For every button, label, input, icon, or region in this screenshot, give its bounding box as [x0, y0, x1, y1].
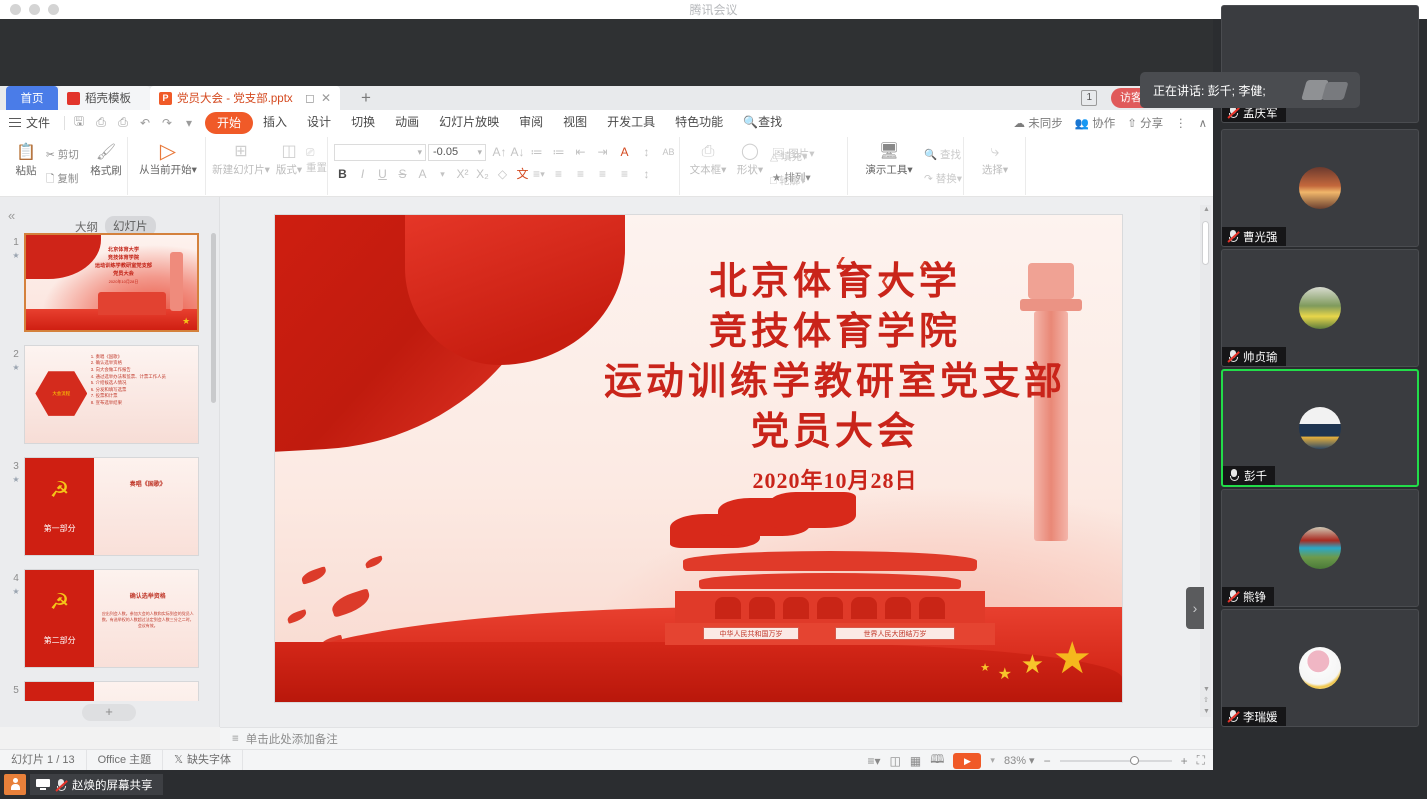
- title-line: 党员大会: [70, 270, 176, 278]
- slide-title-line: 竞技体育学院: [575, 307, 1095, 357]
- sync-status[interactable]: ☁ 未同步: [1014, 115, 1063, 131]
- wps-dark-header: [0, 19, 1213, 86]
- list-item: 5. 介绍候选人情况: [91, 380, 195, 387]
- hamburger-icon: [9, 115, 21, 130]
- previous-slide-icon[interactable]: ⇧: [1203, 696, 1209, 704]
- scrollbar-thumb[interactable]: [1202, 221, 1209, 265]
- textbox-label: 文本框: [690, 164, 722, 176]
- thumbnail-number: 5: [10, 685, 22, 696]
- gate-roof: [683, 551, 977, 571]
- bold-button[interactable]: B: [334, 166, 351, 183]
- slide-title-line: 党员大会: [575, 407, 1095, 457]
- view-sorter-icon[interactable]: ▦: [910, 754, 921, 768]
- ribbon-group-select: ⤷ 选择▾: [964, 137, 1026, 195]
- star-icon: ★: [1021, 649, 1044, 680]
- shapes-icon: ◯: [730, 142, 770, 162]
- animation-star-icon: ★: [10, 251, 22, 260]
- tencent-meeting-icon[interactable]: [4, 774, 26, 795]
- screen-share-label: 赵焕的屏幕共享: [72, 777, 153, 793]
- thumbnail-list[interactable]: 1 ★ ★ 北京体育大学 竞技体育学院 运动训练学教研室党: [0, 231, 214, 701]
- play-slideshow-button[interactable]: ▶: [953, 753, 981, 769]
- reset-slide-button[interactable]: ⎚ 重置: [306, 147, 327, 175]
- participant-tile-5[interactable]: 李瑞媛: [1221, 609, 1419, 727]
- section-left-panel: ☭ 第一部分: [25, 458, 94, 555]
- avatar: [1299, 287, 1341, 329]
- animation-star-icon: ★: [10, 587, 22, 596]
- participant-video-sidebar: 孟庆军 曹光强 帅贞瑜: [1219, 19, 1422, 770]
- paste-icon: 📋: [6, 143, 46, 163]
- gate-banner-right: 世界人民大团结万岁: [835, 627, 955, 640]
- tab-docer-label: 稻壳模板: [85, 90, 131, 106]
- wps-tab-strip: 首页 稻壳模板 P 党员大会 - 党支部.pptx ◻ ✕ + 1 访客登录: [0, 86, 1213, 110]
- menu-item-review[interactable]: 审阅: [509, 110, 553, 135]
- shapes-button[interactable]: ◯ 形状▾: [730, 142, 770, 177]
- menu-items[interactable]: 开始 插入 设计 切换 动画 幻灯片放映 审阅 视图 开发工具 特色功能 🔍查找: [205, 110, 792, 135]
- docer-icon: [67, 92, 80, 105]
- font-name-input[interactable]: ▾: [334, 144, 426, 161]
- divider: [64, 116, 65, 130]
- format-painter-icon: 🖌: [86, 143, 126, 163]
- participant-tile-4[interactable]: 熊铮: [1221, 489, 1419, 607]
- select-label: 选择: [982, 164, 1003, 176]
- page-count-badge[interactable]: 1: [1081, 90, 1097, 106]
- animation-star-icon: ★: [10, 363, 22, 372]
- thumbnail-slide-3[interactable]: ☭ 第一部分 奏唱《国歌》: [24, 457, 199, 556]
- play-circle-icon: ▷: [137, 142, 199, 162]
- format-painter-button[interactable]: 🖌 格式刷: [86, 143, 126, 178]
- mic-on-icon: [1229, 469, 1239, 482]
- menu-item-insert[interactable]: 插入: [253, 110, 297, 135]
- textbox-button[interactable]: ⎙ 文本框▾: [686, 142, 730, 177]
- menu-item-special-features[interactable]: 特色功能: [665, 110, 733, 135]
- notes-icon: ≡: [232, 733, 239, 745]
- menu-search-label: 查找: [758, 115, 782, 129]
- section-left-panel: ☭ 第二部分: [25, 570, 94, 667]
- slide-canvas-area: ❮ ❮ ❮ ❮ 北京体育大学 竞技体育学院 运动训练学教研室党支部: [220, 197, 1213, 727]
- tencent-meeting-logo: [1304, 80, 1350, 100]
- zoom-in-button[interactable]: +: [1181, 754, 1188, 768]
- section-body: 应出列会人数。参加大会的人数和实际到会的党员人数，有选举权的人数超过法定到会人数…: [101, 611, 194, 629]
- expand-side-panel-button[interactable]: ›: [1186, 587, 1204, 629]
- list-item: 3. 向大会做工作报告: [91, 367, 195, 374]
- ribbon-group-slides: ⊞ 新建幻灯片▾ ◫ 版式▾ ⎚ 重置: [206, 137, 328, 195]
- list-item: 2. 确认选举资格: [91, 360, 195, 367]
- layout-icon: ◫: [270, 142, 308, 162]
- notes-bar[interactable]: ≡ 单击此处添加备注: [220, 727, 1213, 749]
- chevron-down-icon: ▾: [477, 145, 485, 160]
- slide-thumbnail-panel: « 大纲 幻灯片 1 ★ ★: [0, 197, 220, 727]
- print-preview-icon[interactable]: ⎙: [113, 113, 133, 132]
- shapes-label: 形状: [737, 164, 758, 176]
- missing-font-status[interactable]: 𝕏 缺失字体: [163, 750, 243, 771]
- presentation-tools-icon: 🖥: [858, 142, 920, 162]
- section-part-label: 第二部分: [25, 635, 94, 646]
- bullets-button[interactable]: ≔: [528, 144, 545, 161]
- menu-item-slideshow[interactable]: 幻灯片放映: [429, 110, 509, 135]
- thumbnail-number: 1: [10, 237, 22, 248]
- align-left-button[interactable]: ≡: [528, 166, 545, 183]
- participant-name: 曹光强: [1243, 229, 1278, 245]
- participant-name: 李瑞媛: [1243, 709, 1278, 725]
- ribbon-group-font: ▾ -0.05 ▾ A↑ A↓ B I U S A ▾ X²: [328, 137, 680, 195]
- avatar: [1299, 527, 1341, 569]
- tiananmen-shape: [98, 292, 166, 315]
- next-slide-icon[interactable]: ▼: [1203, 708, 1210, 715]
- layout-label: 版式: [276, 164, 297, 176]
- close-icon[interactable]: ✕: [321, 91, 331, 105]
- replace-button[interactable]: ↷ 替换▾: [924, 171, 962, 186]
- thumbnail-number: 2: [10, 349, 22, 360]
- search-icon: 🔍: [743, 115, 758, 129]
- collaborate-button[interactable]: 👥 协作: [1075, 115, 1116, 131]
- agenda-badge: 大会流程: [35, 371, 87, 416]
- grow-font-button[interactable]: A↑: [491, 144, 508, 161]
- text-color-button[interactable]: A: [414, 166, 431, 183]
- new-slide-icon: ⊞: [212, 142, 270, 162]
- agenda-list: 1. 奏唱《国歌》 2. 确认选举资格 3. 向大会做工作报告 4. 通过选举办…: [91, 354, 195, 407]
- align-text-button[interactable]: ↕: [638, 144, 655, 161]
- fill-button[interactable]: △ 填充▾: [770, 149, 807, 164]
- quick-access-toolbar[interactable]: 🖫 ⎙ ⎙ ↶ ↷ ▾: [69, 113, 199, 132]
- replace-label: 替换: [936, 173, 957, 185]
- menu-item-developer[interactable]: 开发工具: [597, 110, 665, 135]
- section-heading: 奏唱《国歌》: [101, 479, 194, 488]
- decrease-indent-button[interactable]: ⇤: [572, 144, 589, 161]
- increase-indent-button[interactable]: ⇥: [594, 144, 611, 161]
- clear-formatting-button[interactable]: ◇: [494, 166, 511, 183]
- gate-banner-left: 中华人民共和国万岁: [703, 627, 799, 640]
- menubar-right-actions[interactable]: ☁ 未同步 👥 协作 ⇧ 分享 ⋮ ∧: [1014, 110, 1207, 135]
- redo-icon[interactable]: ↷: [157, 113, 177, 132]
- ribbon-group-tools: 🖥 演示工具▾ 🔍 查找 ↷ 替换▾: [848, 137, 964, 195]
- title-line: 竞技体育学院: [70, 254, 176, 262]
- collaborate-label: 协作: [1092, 118, 1115, 130]
- participant-name-badge: 彭千: [1223, 466, 1275, 485]
- fit-to-window-icon[interactable]: ⛶: [1197, 753, 1205, 768]
- new-slide-button[interactable]: ⊞ 新建幻灯片▾: [212, 142, 270, 177]
- view-normal-icon[interactable]: ◫: [890, 754, 901, 768]
- participant-tile-3[interactable]: 彭千: [1221, 369, 1419, 487]
- text-direction-button[interactable]: A: [616, 144, 633, 161]
- underline-button[interactable]: U: [374, 166, 391, 183]
- zoom-slider-knob[interactable]: [1130, 756, 1139, 765]
- distribute-button[interactable]: ≡: [616, 166, 633, 183]
- participant-name-badge: 李瑞媛: [1222, 707, 1286, 726]
- copy-label: 复制: [57, 173, 78, 185]
- menu-item-design[interactable]: 设计: [297, 110, 341, 135]
- speaking-indicator-toast: 正在讲话: 彭千; 李健;: [1140, 72, 1360, 108]
- menu-file[interactable]: 文件: [0, 114, 60, 131]
- subscript-button[interactable]: X₂: [474, 166, 491, 183]
- find-button[interactable]: 🔍 查找: [924, 147, 961, 162]
- wps-ribbon: 📋 粘贴 ✂ 剪切 🗋 复制 🖌 格式刷 ▷ 从当前开始▾ ⊞: [0, 135, 1213, 197]
- participant-name: 彭千: [1244, 468, 1267, 484]
- convert-smartart-button[interactable]: AB: [660, 144, 677, 161]
- wps-work-area: « 大纲 幻灯片 1 ★ ★: [0, 197, 1213, 727]
- thumbnail-number: 3: [10, 461, 22, 472]
- align-right-button[interactable]: ≡: [572, 166, 589, 183]
- participant-name: 熊铮: [1243, 589, 1266, 605]
- thumbnail-slide-1[interactable]: ★ 北京体育大学 竞技体育学院 运动训练学教研室党支部 党员大会 2020年10…: [24, 233, 199, 332]
- screen-share-status[interactable]: 赵焕的屏幕共享: [30, 774, 163, 795]
- star-icon: ★: [980, 661, 990, 674]
- presentation-tools-button[interactable]: 🖥 演示工具▾: [858, 142, 920, 177]
- zoom-slider[interactable]: [1060, 760, 1172, 762]
- section-heading: 确认选举资格: [101, 591, 194, 600]
- menu-item-start[interactable]: 开始: [205, 112, 253, 134]
- superscript-button[interactable]: X²: [454, 166, 471, 183]
- gate-portals: [715, 597, 945, 619]
- title-date: 2020年10月28日: [70, 278, 176, 286]
- chevron-down-icon: ▾: [417, 145, 425, 160]
- monitor-icon[interactable]: ◻: [305, 91, 315, 105]
- tab-document-label: 党员大会 - 党支部.pptx: [177, 90, 293, 106]
- gate-roof-2: [699, 573, 961, 589]
- copy-button[interactable]: 🗋 复制: [46, 171, 78, 189]
- scroll-down-icon[interactable]: ▼: [1203, 686, 1210, 693]
- mic-muted-icon: [1228, 230, 1238, 243]
- theme-status[interactable]: Office 主题: [87, 750, 164, 771]
- select-button[interactable]: ⤷ 选择▾: [974, 142, 1016, 177]
- window-title: 腾讯会议: [0, 1, 1427, 18]
- section-part-label: 第一部分: [25, 523, 94, 534]
- title-line: 北京体育大学: [70, 246, 176, 254]
- title-line: 运动训练学教研室党支部: [70, 262, 176, 270]
- thumbnail-preview: ☭ 第二部分 确认选举资格 应出列会人数。参加大会的人数和实际到会的党员人数，有…: [25, 570, 198, 667]
- line-spacing-button[interactable]: ↕: [638, 166, 655, 183]
- list-item: 8. 宣布选举结果: [91, 400, 195, 407]
- mic-muted-icon: [1228, 590, 1238, 603]
- animation-star-icon: ★: [10, 475, 22, 484]
- paste-label: 粘贴: [16, 165, 37, 177]
- participant-name-badge: 熊铮: [1222, 587, 1274, 606]
- ribbon-group-present: ▷ 从当前开始▾: [128, 137, 206, 195]
- select-icon: ⤷: [974, 142, 1016, 162]
- slide-canvas[interactable]: ❮ ❮ ❮ ❮ 北京体育大学 竞技体育学院 运动训练学教研室党支部: [275, 215, 1122, 702]
- hammer-sickle-icon: ☭: [50, 479, 70, 501]
- ribbon-group-clipboard: 📋 粘贴 ✂ 剪切 🗋 复制 🖌 格式刷: [0, 137, 128, 195]
- slide-title[interactable]: 北京体育大学 竞技体育学院 运动训练学教研室党支部 党员大会 2020年10月2…: [575, 257, 1095, 501]
- thumbnail-title: 北京体育大学 竞技体育学院 运动训练学教研室党支部 党员大会 2020年10月2…: [70, 246, 176, 286]
- textbox-icon: ⎙: [686, 142, 730, 162]
- more-options-icon[interactable]: ⋮: [1175, 116, 1187, 130]
- justify-button[interactable]: ≡: [594, 166, 611, 183]
- thumbnail-preview: [25, 682, 198, 701]
- slide-count-status[interactable]: 幻灯片 1 / 13: [0, 750, 87, 771]
- participant-tile-1[interactable]: 曹光强: [1221, 129, 1419, 247]
- thumbnail-slide-4[interactable]: ☭ 第二部分 确认选举资格 应出列会人数。参加大会的人数和实际到会的党员人数，有…: [24, 569, 199, 668]
- shrink-font-button[interactable]: A↓: [509, 144, 526, 161]
- start-from-current-label: 从当前开始: [139, 164, 192, 176]
- meeting-taskbar: 赵焕的屏幕共享: [0, 770, 1427, 799]
- view-outline-icon[interactable]: ≡▾: [868, 754, 881, 768]
- avatar: [1299, 167, 1341, 209]
- window-titlebar: 腾讯会议: [0, 0, 1427, 19]
- thumbnail-preview: ★ 北京体育大学 竞技体育学院 运动训练学教研室党支部 党员大会 2020年10…: [26, 235, 197, 330]
- thumbnail-slide-2[interactable]: 大会流程 1. 奏唱《国歌》 2. 确认选举资格 3. 向大会做工作报告 4. …: [24, 345, 199, 444]
- speaking-indicator-text: 正在讲话: 彭千; 李健;: [1153, 82, 1266, 99]
- zoom-out-button[interactable]: −: [1044, 754, 1051, 768]
- sync-status-label: 未同步: [1028, 118, 1063, 130]
- numbering-button[interactable]: ≔: [550, 144, 567, 161]
- missing-font-label: 缺失字体: [187, 750, 231, 771]
- chevron-down-icon[interactable]: ▾: [990, 755, 995, 766]
- find-label: 查找: [940, 149, 961, 161]
- avatar: [1299, 407, 1341, 449]
- participant-name: 帅贞瑜: [1243, 349, 1278, 365]
- screen-share-icon: [36, 779, 50, 790]
- participant-name-badge: 曹光强: [1222, 227, 1286, 246]
- add-slide-button[interactable]: +: [82, 704, 136, 721]
- menu-item-view[interactable]: 视图: [553, 110, 597, 135]
- reset-label: 重置: [306, 162, 327, 174]
- zoom-level-label[interactable]: 83% ▾: [1004, 754, 1035, 767]
- undo-icon[interactable]: ↶: [135, 113, 155, 132]
- tab-docer-template[interactable]: 稻壳模板: [58, 86, 150, 110]
- save-icon[interactable]: 🖫: [69, 113, 89, 132]
- menu-item-animation[interactable]: 动画: [385, 110, 429, 135]
- star-icon: ★: [1053, 633, 1092, 684]
- cut-label: 剪切: [58, 149, 79, 161]
- thumbnail-scrollbar[interactable]: [211, 233, 216, 403]
- italic-button[interactable]: I: [354, 166, 371, 183]
- star-icon: ★: [182, 316, 190, 327]
- wps-status-bar: 幻灯片 1 / 13 Office 主题 𝕏 缺失字体 ≡▾ ◫ ▦ 🕮 ▶ ▾…: [0, 749, 1213, 770]
- thumbnail-preview: ☭ 第一部分 奏唱《国歌》: [25, 458, 198, 555]
- status-bar-right-controls[interactable]: ≡▾ ◫ ▦ 🕮 ▶ ▾ 83% ▾ − + ⛶: [868, 750, 1205, 770]
- mic-muted-icon: [1228, 710, 1238, 723]
- mic-muted-icon: [56, 779, 66, 791]
- menu-search[interactable]: 🔍查找: [733, 110, 792, 135]
- layout-button[interactable]: ◫ 版式▾: [270, 142, 308, 177]
- hammer-sickle-icon: ☭: [50, 591, 70, 613]
- notes-placeholder: 单击此处添加备注: [246, 731, 338, 747]
- wps-menubar: 文件 🖫 ⎙ ⎙ ↶ ↷ ▾ 开始 插入 设计 切换 动画 幻灯片放映 审阅 视…: [0, 110, 1213, 135]
- thumbnail-panel-tabs: 大纲 幻灯片: [0, 207, 220, 229]
- font-icon: 𝕏: [174, 750, 183, 771]
- slide-title-line: 运动训练学教研室党支部: [575, 357, 1095, 407]
- pptx-icon: P: [159, 92, 172, 105]
- format-painter-label: 格式刷: [90, 165, 122, 177]
- cut-button[interactable]: ✂ 剪切: [46, 147, 79, 162]
- canvas-vertical-scrollbar[interactable]: ▲ ▼ ⇧ ▼: [1200, 205, 1211, 717]
- collapse-ribbon-icon[interactable]: ∧: [1199, 116, 1207, 130]
- list-item: 7. 投票和计票: [91, 393, 195, 400]
- print-icon[interactable]: ⎙: [91, 113, 111, 132]
- share-label: 分享: [1140, 118, 1163, 130]
- tab-home-label: 首页: [21, 90, 44, 106]
- fill-label: 填充: [781, 151, 802, 163]
- new-slide-label: 新建幻灯片: [212, 164, 265, 176]
- ribbon-group-drawing: ⎙ 文本框▾ ◯ 形状▾ 🖼 图片▾ ★ 排列▾: [680, 137, 848, 195]
- align-center-button[interactable]: ≡: [550, 166, 567, 183]
- tiananmen-illustration: 中华人民共和国万岁 世界人民大团结万岁: [665, 539, 995, 644]
- customize-qat-icon[interactable]: ▾: [179, 113, 199, 132]
- new-tab-button[interactable]: +: [356, 88, 376, 108]
- thumbnail-slide-5[interactable]: [24, 681, 199, 701]
- outline-label: 轮廓: [779, 175, 800, 187]
- slide-title-line: 北京体育大学: [575, 257, 1095, 307]
- presentation-tools-label: 演示工具: [865, 164, 907, 176]
- font-size-input[interactable]: -0.05 ▾: [428, 144, 486, 161]
- scroll-up-icon[interactable]: ▲: [1203, 206, 1210, 213]
- shared-screen-wps-window: 首页 稻壳模板 P 党员大会 - 党支部.pptx ◻ ✕ + 1 访客登录: [0, 19, 1213, 770]
- strikethrough-button[interactable]: S: [394, 166, 411, 183]
- ground-shape-2: [275, 642, 1122, 702]
- share-button[interactable]: ⇧ 分享: [1127, 115, 1163, 131]
- thumbnail-number: 4: [10, 573, 22, 584]
- outline-button[interactable]: □ 轮廓▾: [770, 173, 806, 188]
- tab-home[interactable]: 首页: [6, 86, 58, 110]
- section-left-panel: [25, 682, 94, 701]
- tab-action-icons[interactable]: ◻ ✕: [305, 86, 331, 110]
- paste-button[interactable]: 📋 粘贴: [6, 143, 46, 178]
- participant-name-badge: 帅贞瑜: [1222, 347, 1286, 366]
- star-icon: ★: [998, 664, 1012, 684]
- view-reading-icon[interactable]: 🕮: [930, 750, 944, 770]
- menu-file-label: 文件: [26, 114, 50, 131]
- thumbnail-preview: 大会流程 1. 奏唱《国歌》 2. 确认选举资格 3. 向大会做工作报告 4. …: [25, 346, 198, 443]
- avatar: [1299, 647, 1341, 689]
- font-size-value: -0.05: [433, 146, 458, 158]
- chevron-down-icon[interactable]: ▾: [434, 166, 451, 183]
- start-from-current-button[interactable]: ▷ 从当前开始▾: [137, 142, 199, 177]
- participant-tile-2[interactable]: 帅贞瑜: [1221, 249, 1419, 367]
- mic-muted-icon: [1228, 350, 1238, 363]
- menu-item-transition[interactable]: 切换: [341, 110, 385, 135]
